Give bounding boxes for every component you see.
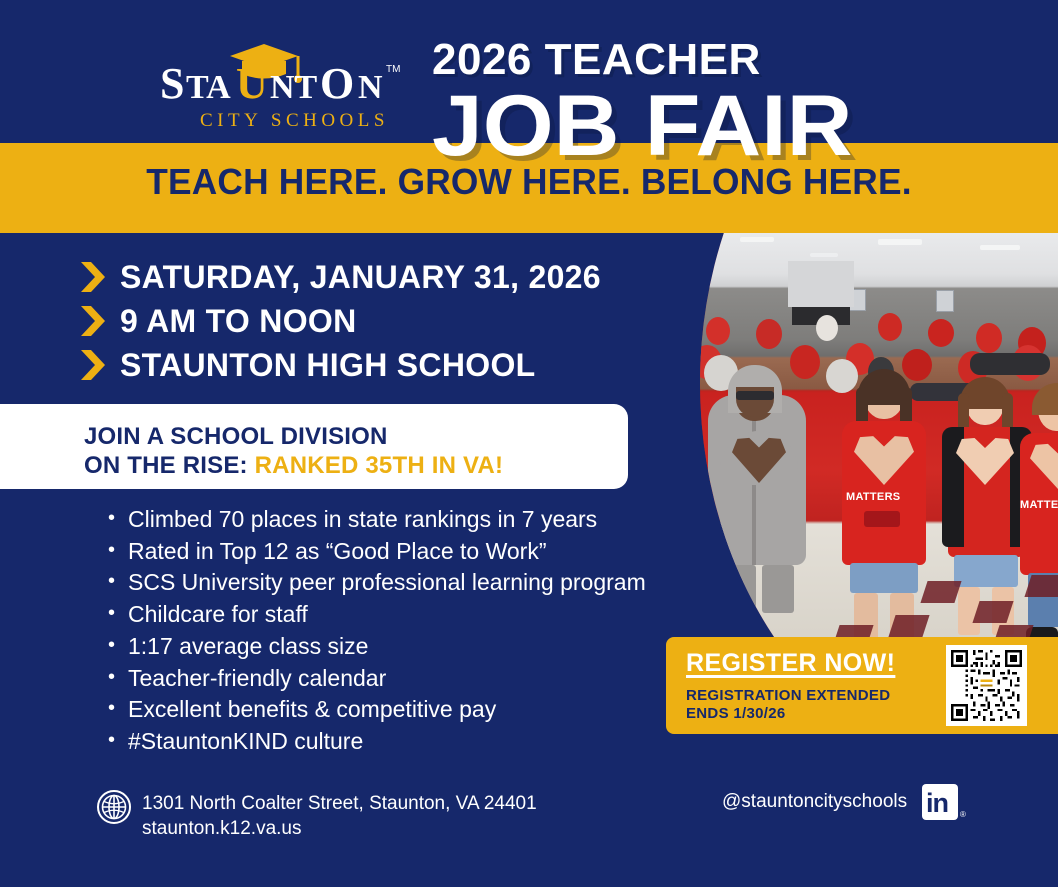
title-line-2: JOB FAIR [432,86,852,168]
crowd-blob [928,319,954,347]
ceiling-light [878,239,922,245]
student-figure: MATTERS [836,369,932,643]
ceiling-light [980,245,1020,250]
chevron-right-icon [78,304,108,338]
linkedin-registered-mark: ® [960,810,966,819]
staunton-city-schools-logo: S TA U NT O N TM CITY SCHOOLS [152,36,422,136]
list-item: Teacher-friendly calendar [106,663,646,695]
svg-text:O: O [320,59,354,108]
callout-content: JOIN A SCHOOL DIVISION ON THE RISE: RANK… [84,422,503,481]
crowd-blob [674,321,700,351]
student-figure [698,343,818,613]
list-item: #StauntonKIND culture [106,726,646,758]
student-figure: MATTERS [1016,383,1058,643]
svg-text:TA: TA [186,69,231,106]
list-item: SCS University peer professional learnin… [106,567,646,599]
crowd-blob [878,313,902,341]
cafeteria-table [970,353,1050,375]
qr-code[interactable] [946,645,1027,726]
event-row-time: 9 AM TO NOON [78,300,601,341]
globe-icon [96,789,132,825]
ceiling-light [668,241,708,247]
wall-poster [936,290,954,312]
footer-address: 1301 North Coalter Street, Staunton, VA … [142,791,537,816]
job-fair-poster: MATTERS [0,0,1058,887]
poster-title: 2026 TEACHER JOB FAIR [432,38,829,168]
event-row-date: SATURDAY, JANUARY 31, 2026 [78,256,601,297]
callout-line-1: JOIN A SCHOOL DIVISION [84,422,503,451]
register-now-title[interactable]: REGISTER NOW! [686,649,895,678]
svg-text:N: N [358,69,383,106]
callout-prefix: ON THE RISE: [84,452,248,479]
linkedin-mark: in [926,786,948,820]
ceiling-light [740,237,774,242]
svg-text:U: U [236,59,268,108]
ranking-callout-box: JOIN A SCHOOL DIVISION ON THE RISE: RANK… [0,404,628,489]
photo-clip-mask: MATTERS [640,233,1058,643]
linkedin-icon[interactable]: in ® [922,784,968,822]
list-item: Rated in Top 12 as “Good Place to Work” [106,536,646,568]
chevron-right-icon [78,348,108,382]
projection-screen [788,261,854,307]
floor-tile [920,581,961,603]
benefits-list: Climbed 70 places in state rankings in 7… [106,504,646,758]
list-item: Childcare for staff [106,599,646,631]
qr-code-svg[interactable] [951,650,1022,721]
floor-tile [972,601,1013,623]
title-line-1: 2026 TEACHER [432,38,829,82]
register-now-box[interactable]: REGISTER NOW! REGISTRATION EXTENDED ENDS… [666,637,1058,734]
callout-highlight: RANKED 35TH IN VA! [255,452,504,479]
logo-svg: S TA U NT O N TM CITY SCHOOLS [152,36,422,136]
list-item: Excellent benefits & competitive pay [106,694,646,726]
chevron-right-icon [78,260,108,294]
list-item: 1:17 average class size [106,631,646,663]
crowd-blob [976,323,1002,353]
event-time-text: 9 AM TO NOON [120,305,357,337]
list-item: Climbed 70 places in state rankings in 7… [106,504,646,536]
floor-tile [888,615,929,637]
svg-text:S: S [160,59,183,108]
photo-image: MATTERS [640,233,1058,643]
ceiling-light [810,253,838,257]
footer-address-block: 1301 North Coalter Street, Staunton, VA … [142,791,537,841]
register-subtitle-2: ENDS 1/30/26 [686,705,786,722]
svg-text:TM: TM [386,64,400,75]
crowd-blob [706,317,730,345]
event-row-location: STAUNTON HIGH SCHOOL [78,344,601,385]
floor-tile [1024,575,1058,597]
callout-line-2: ON THE RISE: RANKED 35TH IN VA! [84,451,503,480]
students-photo: MATTERS [640,233,1058,643]
crowd-blob [816,315,838,341]
footer-website[interactable]: staunton.k12.va.us [142,816,537,841]
social-handle: @stauntoncityschools [722,791,907,813]
register-subtitle-1: REGISTRATION EXTENDED [686,687,890,704]
event-details-list: SATURDAY, JANUARY 31, 2026 9 AM TO NOON … [78,256,601,385]
svg-text:NT: NT [270,69,318,106]
svg-text:CITY SCHOOLS: CITY SCHOOLS [200,110,389,131]
event-location-text: STAUNTON HIGH SCHOOL [120,349,535,381]
event-date-text: SATURDAY, JANUARY 31, 2026 [120,261,601,293]
